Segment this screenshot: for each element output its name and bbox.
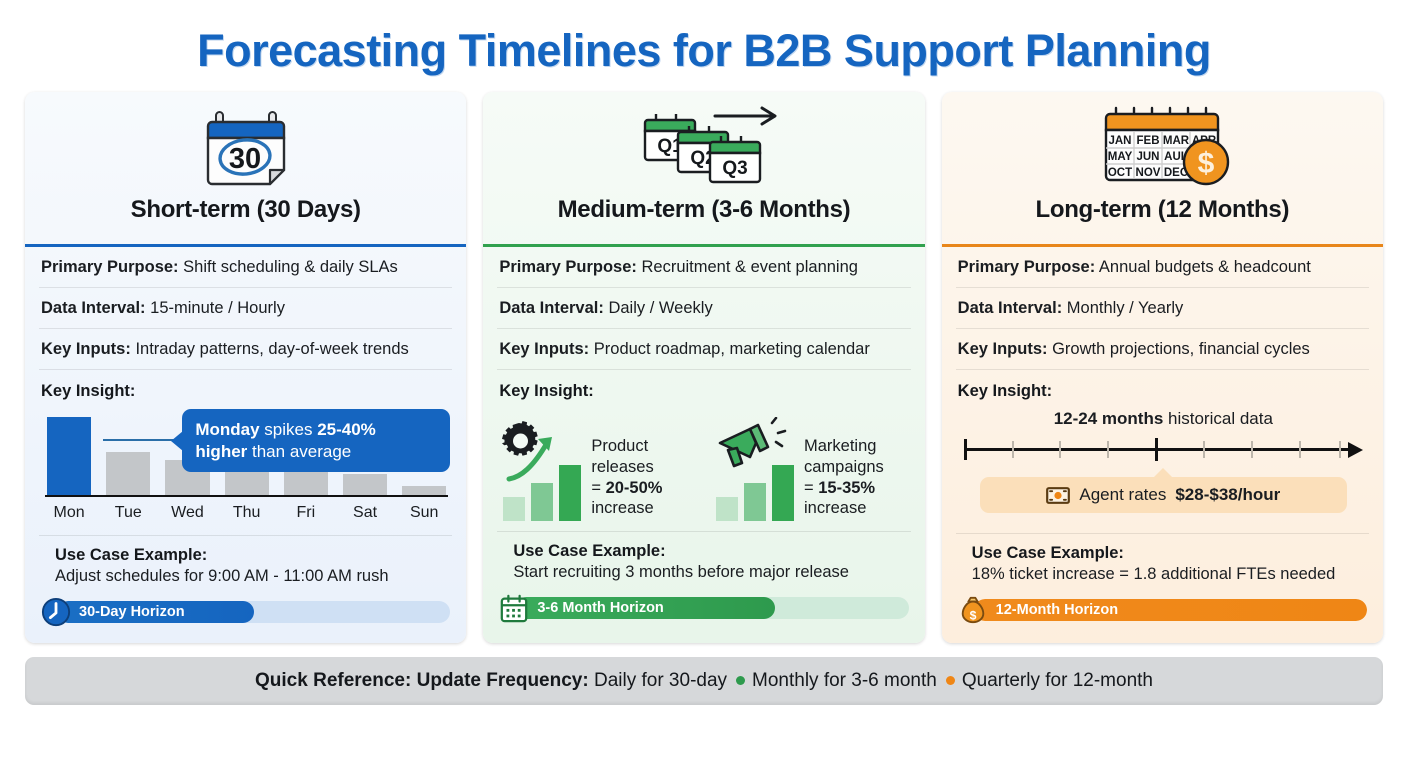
clock-icon	[41, 597, 71, 627]
month-jan: JAN	[1109, 135, 1132, 147]
row-value: Daily / Weekly	[608, 299, 712, 317]
row-label: Data Interval:	[499, 299, 604, 317]
bar-sat	[343, 474, 387, 495]
infographic-page: Forecasting Timelines for B2B Support Pl…	[0, 0, 1408, 768]
bar-fri	[284, 469, 328, 496]
mini-bar-1	[503, 497, 525, 521]
row-label: Key Inputs:	[41, 340, 131, 358]
tick-label: Sat	[343, 504, 387, 522]
calendar-icon	[499, 593, 529, 623]
timeline-tick-major	[1155, 438, 1158, 461]
spec-rows: Primary Purpose: Recruitment & event pla…	[483, 247, 924, 370]
card-short-term: 30 Short-term (30 Days) Primary Purpose:…	[25, 92, 466, 643]
use-case-label: Use Case Example:	[55, 546, 436, 565]
horizon-progress: 3-6 Month Horizon	[483, 582, 924, 639]
timeline-axis-row	[964, 437, 1363, 463]
stat-line4: increase	[591, 499, 653, 517]
card-header: JANFEB MARAPR MAYJUN AUL OCTNOV DEC $ Lo…	[942, 92, 1383, 244]
stat-line4: increase	[804, 499, 866, 517]
timeline-tick	[1251, 441, 1253, 458]
row-label: Key Inputs:	[958, 340, 1048, 358]
callout-strong-pct: 25-40%	[317, 420, 376, 439]
page-title: Forecasting Timelines for B2B Support Pl…	[0, 0, 1408, 74]
key-insight-block: Key Insight: 12-24 months historical dat…	[942, 370, 1383, 529]
quarters-calendar-icon: Q1 Q2 Q3	[620, 100, 788, 192]
mini-bar-3	[559, 465, 581, 521]
footer-item-monthly: Monthly for 3-6 month	[752, 670, 937, 692]
horizon-track: 3-6 Month Horizon	[515, 597, 908, 619]
chart-axis	[45, 495, 448, 498]
dollar-symbol: $	[1198, 147, 1215, 180]
timeline-tick	[1107, 441, 1109, 458]
timeline-tick	[1059, 441, 1061, 458]
bar-col	[47, 417, 91, 495]
card-title: Medium-term (3-6 Months)	[558, 196, 851, 224]
card-title: Long-term (12 Months)	[1035, 196, 1289, 224]
stat-text: Product releases = 20-50% increase	[591, 436, 662, 521]
bar-col	[106, 417, 150, 495]
mini-bar-chart	[503, 465, 581, 521]
agent-rate-text: Agent rates	[1079, 485, 1166, 505]
mini-bar-2	[531, 483, 553, 521]
month-oct: OCT	[1108, 167, 1132, 179]
month-mar: MAR	[1163, 135, 1190, 147]
insight-stats: Product releases = 20-50% increase	[499, 409, 910, 521]
row-value: Recruitment & event planning	[641, 258, 857, 276]
stat-line2: releases	[591, 458, 653, 476]
mini-bar-chart	[716, 465, 794, 521]
weekday-bar-chart: Mon Tue Wed Thu Fri Sat Sun Monday spike…	[41, 407, 452, 525]
horizon-track: 30-Day Horizon	[57, 601, 450, 623]
megaphone-icon	[712, 417, 798, 521]
orange-dot-icon	[946, 676, 955, 685]
row-data-interval: Data Interval: 15-minute / Hourly	[39, 288, 452, 329]
callout-strong-monday: Monday	[195, 420, 259, 439]
row-value: 15-minute / Hourly	[150, 299, 285, 317]
svg-text:$: $	[969, 609, 976, 623]
quick-reference-bar: Quick Reference: Update Frequency: Daily…	[25, 657, 1383, 705]
stat-line3-prefix: =	[804, 479, 818, 497]
row-primary-purpose: Primary Purpose: Annual budgets & headco…	[956, 247, 1369, 288]
stat-product-releases: Product releases = 20-50% increase	[499, 409, 698, 521]
key-insight-block: Key Insight:	[483, 370, 924, 527]
mini-bar-1	[716, 497, 738, 521]
timeline-caption-strong: 12-24 months	[1054, 409, 1164, 428]
row-label: Data Interval:	[958, 299, 1063, 317]
card-header: 30 Short-term (30 Days)	[25, 92, 466, 244]
row-value: Shift scheduling & daily SLAs	[183, 258, 398, 276]
callout-mid: spikes	[260, 420, 318, 439]
card-title: Short-term (30 Days)	[131, 196, 361, 224]
row-value: Intraday patterns, day-of-week trends	[135, 340, 408, 358]
stat-text: Marketing campaigns = 15-35% increase	[804, 436, 884, 521]
spec-rows: Primary Purpose: Shift scheduling & dail…	[25, 247, 466, 370]
card-medium-term: Q1 Q2 Q3	[483, 92, 924, 643]
stat-line1: Product	[591, 437, 648, 455]
horizon-label: 30-Day Horizon	[79, 601, 185, 623]
month-feb: FEB	[1137, 135, 1160, 147]
row-key-inputs: Key Inputs: Product roadmap, marketing c…	[497, 329, 910, 370]
agent-rate-value: $28-$38/hour	[1175, 485, 1280, 505]
chart-tick-labels: Mon Tue Wed Thu Fri Sat Sun	[47, 504, 446, 522]
timeline-tick	[1203, 441, 1205, 458]
use-case-label: Use Case Example:	[513, 542, 894, 561]
timeline-arrow-icon	[1348, 442, 1363, 458]
month-jun: JUN	[1137, 151, 1160, 163]
footer-item-quarterly: Quarterly for 12-month	[962, 670, 1153, 692]
month-nov: NOV	[1136, 167, 1161, 179]
calendar-30-icon: 30	[202, 100, 290, 192]
row-label: Primary Purpose:	[499, 258, 637, 276]
tick-label: Fri	[284, 504, 328, 522]
mini-bar-2	[744, 483, 766, 521]
key-insight-block: Key Insight: Mon Tue	[25, 370, 466, 531]
tick-label: Wed	[165, 504, 209, 522]
row-value: Annual budgets & headcount	[1099, 258, 1311, 276]
stat-line3-value: 20-50%	[606, 479, 663, 497]
stat-line3-value: 15-35%	[818, 479, 875, 497]
use-case-text: 18% ticket increase = 1.8 additional FTE…	[972, 565, 1353, 584]
agent-rate-callout: Agent rates $28-$38/hour	[980, 477, 1347, 513]
cards-row: 30 Short-term (30 Days) Primary Purpose:…	[0, 74, 1408, 643]
timeline-tick-start	[964, 439, 967, 460]
use-case-block: Use Case Example: Start recruiting 3 mon…	[497, 531, 910, 582]
row-primary-purpose: Primary Purpose: Recruitment & event pla…	[497, 247, 910, 288]
mini-bar-3	[772, 465, 794, 521]
tick-label: Thu	[225, 504, 269, 522]
key-insight-label: Key Insight:	[41, 382, 452, 401]
tick-label: Mon	[47, 504, 91, 522]
card-header: Q1 Q2 Q3	[483, 92, 924, 244]
update-frequency-label: Update Frequency:	[417, 670, 589, 692]
key-insight-label: Key Insight:	[499, 382, 910, 401]
timeline-caption: 12-24 months historical data	[958, 405, 1369, 437]
horizon-progress: 30-Day Horizon	[25, 586, 466, 643]
green-dot-icon	[736, 676, 745, 685]
horizon-label: 3-6 Month Horizon	[537, 597, 663, 619]
tick-label: Tue	[106, 504, 150, 522]
stat-line2: campaigns	[804, 458, 884, 476]
historical-timeline: 12-24 months historical data	[958, 405, 1369, 523]
callout-strong-higher: higher	[195, 442, 247, 461]
horizon-progress: $ 12-Month Horizon	[942, 584, 1383, 641]
use-case-text: Start recruiting 3 months before major r…	[513, 563, 894, 582]
use-case-block: Use Case Example: Adjust schedules for 9…	[39, 535, 452, 586]
horizon-label: 12-Month Horizon	[996, 599, 1118, 621]
quick-reference-label: Quick Reference:	[255, 670, 411, 692]
gear-growth-icon	[499, 417, 585, 521]
row-key-inputs: Key Inputs: Growth projections, financia…	[956, 329, 1369, 370]
card-long-term: JANFEB MARAPR MAYJUN AUL OCTNOV DEC $ Lo…	[942, 92, 1383, 643]
quarter-label-q3: Q3	[722, 158, 747, 179]
stat-line1: Marketing	[804, 437, 876, 455]
row-data-interval: Data Interval: Monthly / Yearly	[956, 288, 1369, 329]
callout-line2-rest: than average	[247, 442, 351, 461]
use-case-block: Use Case Example: 18% ticket increase = …	[956, 533, 1369, 584]
money-bag-icon: $	[958, 595, 988, 625]
horizon-track: 12-Month Horizon	[974, 599, 1367, 621]
stat-line3-prefix: =	[591, 479, 605, 497]
banknote-icon	[1046, 487, 1070, 504]
chart-callout: Monday spikes 25-40% higher than average	[182, 409, 450, 472]
timeline-caption-rest: historical data	[1163, 409, 1273, 428]
use-case-label: Use Case Example:	[972, 544, 1353, 563]
bar-mon	[47, 417, 91, 495]
key-insight-label: Key Insight:	[958, 382, 1369, 401]
row-label: Primary Purpose:	[41, 258, 179, 276]
footer-item-daily: Daily for 30-day	[594, 670, 727, 692]
row-value: Growth projections, financial cycles	[1052, 340, 1310, 358]
year-calendar-money-icon: JANFEB MARAPR MAYJUN AUL OCTNOV DEC $	[1082, 100, 1242, 192]
use-case-text: Adjust schedules for 9:00 AM - 11:00 AM …	[55, 567, 436, 586]
svg-text:30: 30	[229, 143, 261, 175]
row-value: Monthly / Yearly	[1067, 299, 1183, 317]
stat-marketing-campaigns: Marketing campaigns = 15-35% increase	[712, 409, 911, 521]
timeline-tick	[1339, 441, 1341, 458]
spec-rows: Primary Purpose: Annual budgets & headco…	[942, 247, 1383, 370]
row-key-inputs: Key Inputs: Intraday patterns, day-of-we…	[39, 329, 452, 370]
row-value: Product roadmap, marketing calendar	[594, 340, 870, 358]
row-label: Key Inputs:	[499, 340, 589, 358]
timeline-tick	[1012, 441, 1014, 458]
row-primary-purpose: Primary Purpose: Shift scheduling & dail…	[39, 247, 452, 288]
row-label: Primary Purpose:	[958, 258, 1096, 276]
timeline-tick	[1299, 441, 1301, 458]
month-may: MAY	[1108, 151, 1133, 163]
row-data-interval: Data Interval: Daily / Weekly	[497, 288, 910, 329]
bar-tue	[106, 452, 150, 496]
row-label: Data Interval:	[41, 299, 146, 317]
tick-label: Sun	[402, 504, 446, 522]
